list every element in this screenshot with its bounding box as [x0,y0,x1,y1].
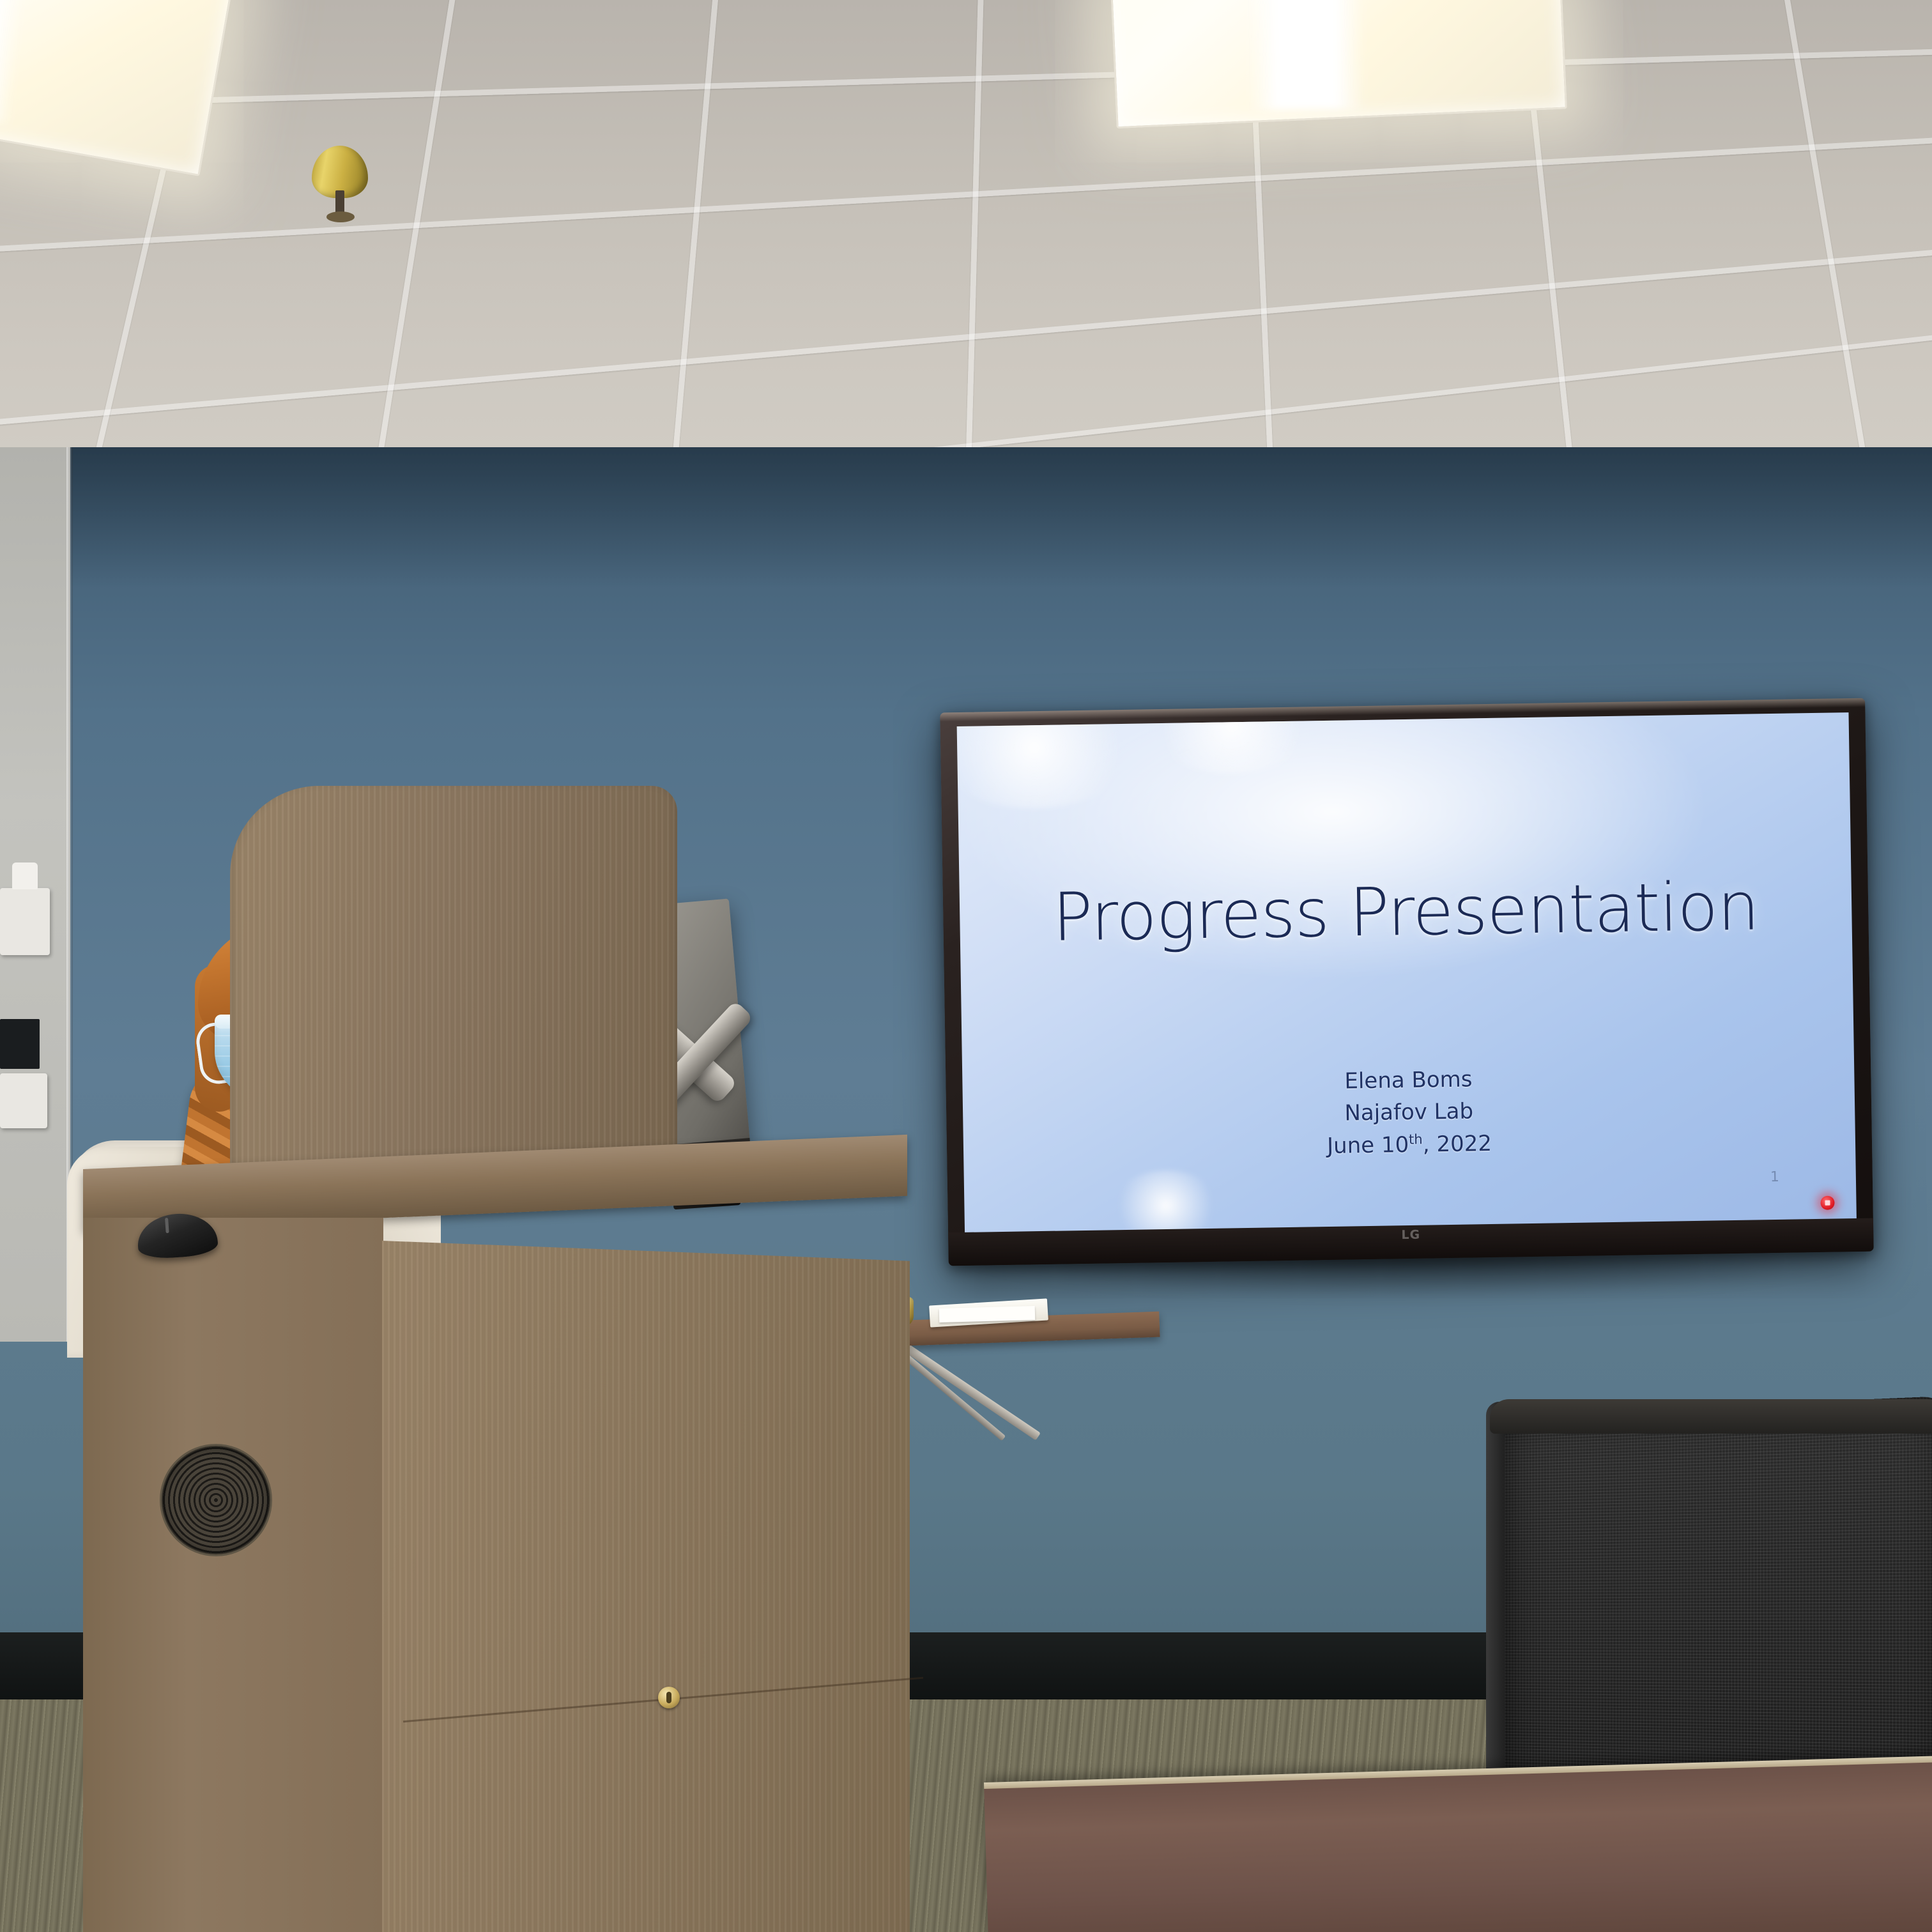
record-indicator-icon [1820,1196,1834,1210]
drop-ceiling [0,0,1932,505]
tv-brand-logo: LG [1401,1228,1420,1242]
podium-side-panel [83,1218,383,1932]
ceiling-light-right [1107,0,1567,128]
podium-front-panel [382,1241,910,1932]
tv-screen: Progress Presentation Elena Boms Najafov… [957,712,1857,1234]
conference-room-photo: Progress Presentation Elena Boms Najafov… [0,0,1932,1932]
podium-riser [230,786,677,1195]
hand-sanitizer-dispenser-icon[interactable] [0,888,50,955]
paper-sheet [939,1306,1036,1322]
wall-recess [0,1019,40,1069]
slide-number: 1 [1770,1169,1779,1185]
conference-table [984,1754,1932,1932]
ceiling-light-left [0,0,237,176]
wall-mounted-tv[interactable]: Progress Presentation Elena Boms Najafov… [940,698,1873,1266]
slide-date-rest: , 2022 [1422,1131,1492,1158]
slide-date-ordinal: th [1409,1131,1423,1147]
slide-subtitle-block: Elena Boms Najafov Lab June 10th, 2022 [962,1057,1855,1168]
cooling-fan-vent-icon [160,1444,272,1556]
fire-sprinkler-icon [312,146,368,222]
wall-bracket [0,1073,47,1128]
slide-date-prefix: June 10 [1327,1132,1409,1159]
slide-title: Progress Presentation [959,866,1852,958]
podium [83,1169,907,1932]
cabinet-lock-icon[interactable] [658,1687,680,1708]
